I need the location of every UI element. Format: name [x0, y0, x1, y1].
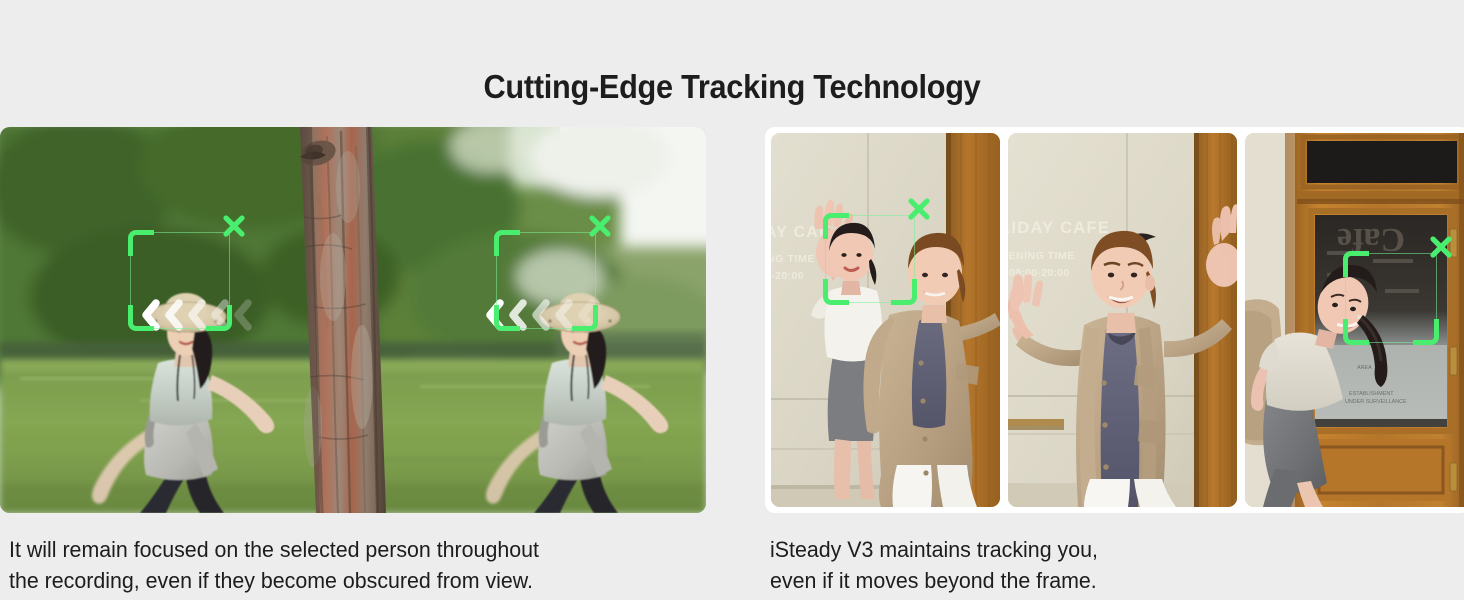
bracket-top-left-icon [494, 230, 520, 256]
close-icon[interactable] [906, 196, 932, 222]
tracking-box-frame-3[interactable] [1345, 253, 1437, 343]
wall-text-line-2: NG TIME [771, 253, 815, 265]
bracket-bottom-right-icon [891, 279, 917, 305]
right-panel-caption: iSteady V3 maintains tracking you, even … [770, 534, 1435, 596]
tracking-technology-feature-page: Cutting-Edge Tracking Technology [0, 0, 1464, 600]
park-scene-illustration [0, 127, 706, 513]
tracking-box-left[interactable] [130, 232, 230, 329]
tracking-box-frame-1[interactable] [825, 215, 915, 303]
frame-1-subject-tracked: AY CAF NG TIME 0-20:00 [771, 133, 1000, 507]
bracket-top-left-icon [823, 213, 849, 239]
bracket-bottom-left-icon [823, 279, 849, 305]
frame-3-subject-reacquired: Cafe AREA ESTABLISHMENT UNDER SURVEILLAN… [1245, 133, 1464, 507]
bracket-bottom-left-icon [128, 305, 154, 331]
bracket-bottom-left-icon [494, 305, 520, 331]
tree-trunk-occluder [297, 127, 386, 513]
close-icon[interactable] [587, 213, 613, 239]
svg-text:AREA: AREA [1357, 365, 1372, 371]
bracket-bottom-right-icon [1413, 319, 1439, 345]
svg-text:UNDER SURVEILLANCE: UNDER SURVEILLANCE [1345, 399, 1407, 405]
cafe-scene-frame-1: AY CAF NG TIME 0-20:00 [771, 133, 1000, 507]
bracket-bottom-right-icon [572, 305, 598, 331]
cafe-scene-frame-2: LIDAY CAFE PENING TIME M08:00-20:00 [1008, 133, 1237, 507]
close-icon[interactable] [221, 213, 247, 239]
bracket-bottom-right-icon [206, 305, 232, 331]
bracket-top-left-icon [1343, 251, 1369, 277]
page-title: Cutting-Edge Tracking Technology [51, 68, 1413, 106]
close-icon[interactable] [1428, 234, 1454, 260]
left-panel-caption: It will remain focused on the selected p… [9, 534, 712, 596]
svg-text:ESTABLISHMENT: ESTABLISHMENT [1349, 391, 1394, 397]
bracket-bottom-left-icon [1343, 319, 1369, 345]
wall-text-line-3: 0-20:00 [771, 270, 804, 282]
bracket-top-left-icon [128, 230, 154, 256]
occlusion-tracking-demo-image [0, 127, 706, 513]
out-of-frame-tracking-demo-image: AY CAF NG TIME 0-20:00 [765, 127, 1464, 513]
wall-text-line-2: PENING TIME [1008, 250, 1075, 262]
frame-2-subject-occluded: LIDAY CAFE PENING TIME M08:00-20:00 [1008, 133, 1237, 507]
tracking-box-right[interactable] [496, 232, 596, 329]
wall-text-line-1: LIDAY CAFE [1008, 219, 1110, 237]
